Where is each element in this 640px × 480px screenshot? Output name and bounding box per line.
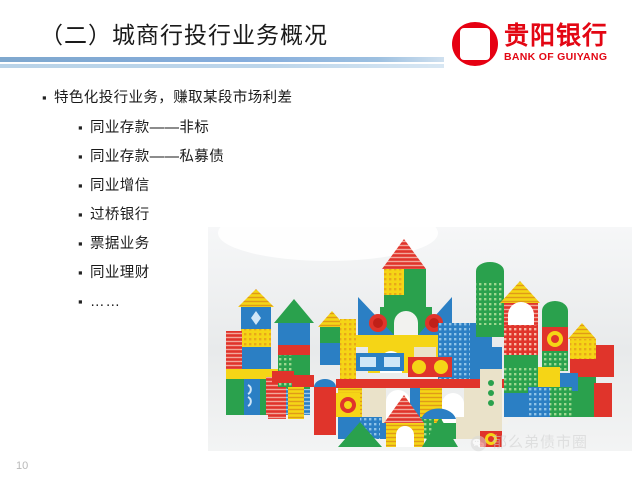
list-item: ▪ 过桥银行 (42, 203, 372, 228)
list-item-label: …… (90, 290, 121, 315)
list-item-label: 特色化投行业务，赚取某段市场利差 (54, 86, 292, 110)
wechat-icon (470, 435, 487, 452)
list-item: ▪ 同业存款——私募债 (42, 145, 372, 170)
bullet-marker-icon: ▪ (78, 203, 90, 227)
list-item-label: 同业存款——私募债 (90, 145, 224, 170)
list-item-label: 同业理财 (90, 261, 150, 286)
bullet-marker-icon: ▪ (78, 290, 90, 314)
bullet-marker-icon: ▪ (78, 232, 90, 256)
watermark-label: 郁么弟债市圈 (492, 433, 588, 453)
list-item: ▪ 特色化投行业务，赚取某段市场利差 (42, 86, 372, 110)
bullet-marker-icon: ▪ (78, 116, 90, 140)
list-item: ▪ 同业增信 (42, 174, 372, 199)
bullet-marker-icon: ▪ (78, 145, 90, 169)
list-item: ▪ 同业存款——非标 (42, 116, 372, 141)
bank-logo-text: 贵阳银行 BANK OF GUIYANG (504, 22, 636, 64)
list-item-label: 过桥银行 (90, 203, 150, 228)
title-divider (0, 57, 444, 68)
bank-name-en: BANK OF GUIYANG (504, 50, 636, 64)
list-item-label: 同业存款——非标 (90, 116, 209, 141)
bullet-marker-icon: ▪ (78, 261, 90, 285)
bank-logo: 贵阳银行 BANK OF GUIYANG (452, 22, 636, 68)
bullet-marker-icon: ▪ (42, 86, 54, 110)
toy-blocks-photo (208, 227, 632, 451)
list-item-label: 票据业务 (90, 232, 150, 257)
bank-name-cn: 贵阳银行 (504, 22, 636, 50)
toy-blocks-illustration (208, 227, 632, 451)
page-number: 10 (16, 459, 28, 473)
divider-bar-bottom (0, 64, 444, 68)
bank-logo-mark-icon (452, 22, 498, 66)
bullet-marker-icon: ▪ (78, 174, 90, 198)
slide-canvas: （二）城商行投行业务概况 贵阳银行 BANK OF GUIYANG ▪ 特色化投… (0, 0, 640, 480)
list-item-label: 同业增信 (90, 174, 150, 199)
page-title: （二）城商行投行业务概况 (40, 20, 328, 50)
watermark: 郁么弟债市圈 (470, 432, 630, 454)
